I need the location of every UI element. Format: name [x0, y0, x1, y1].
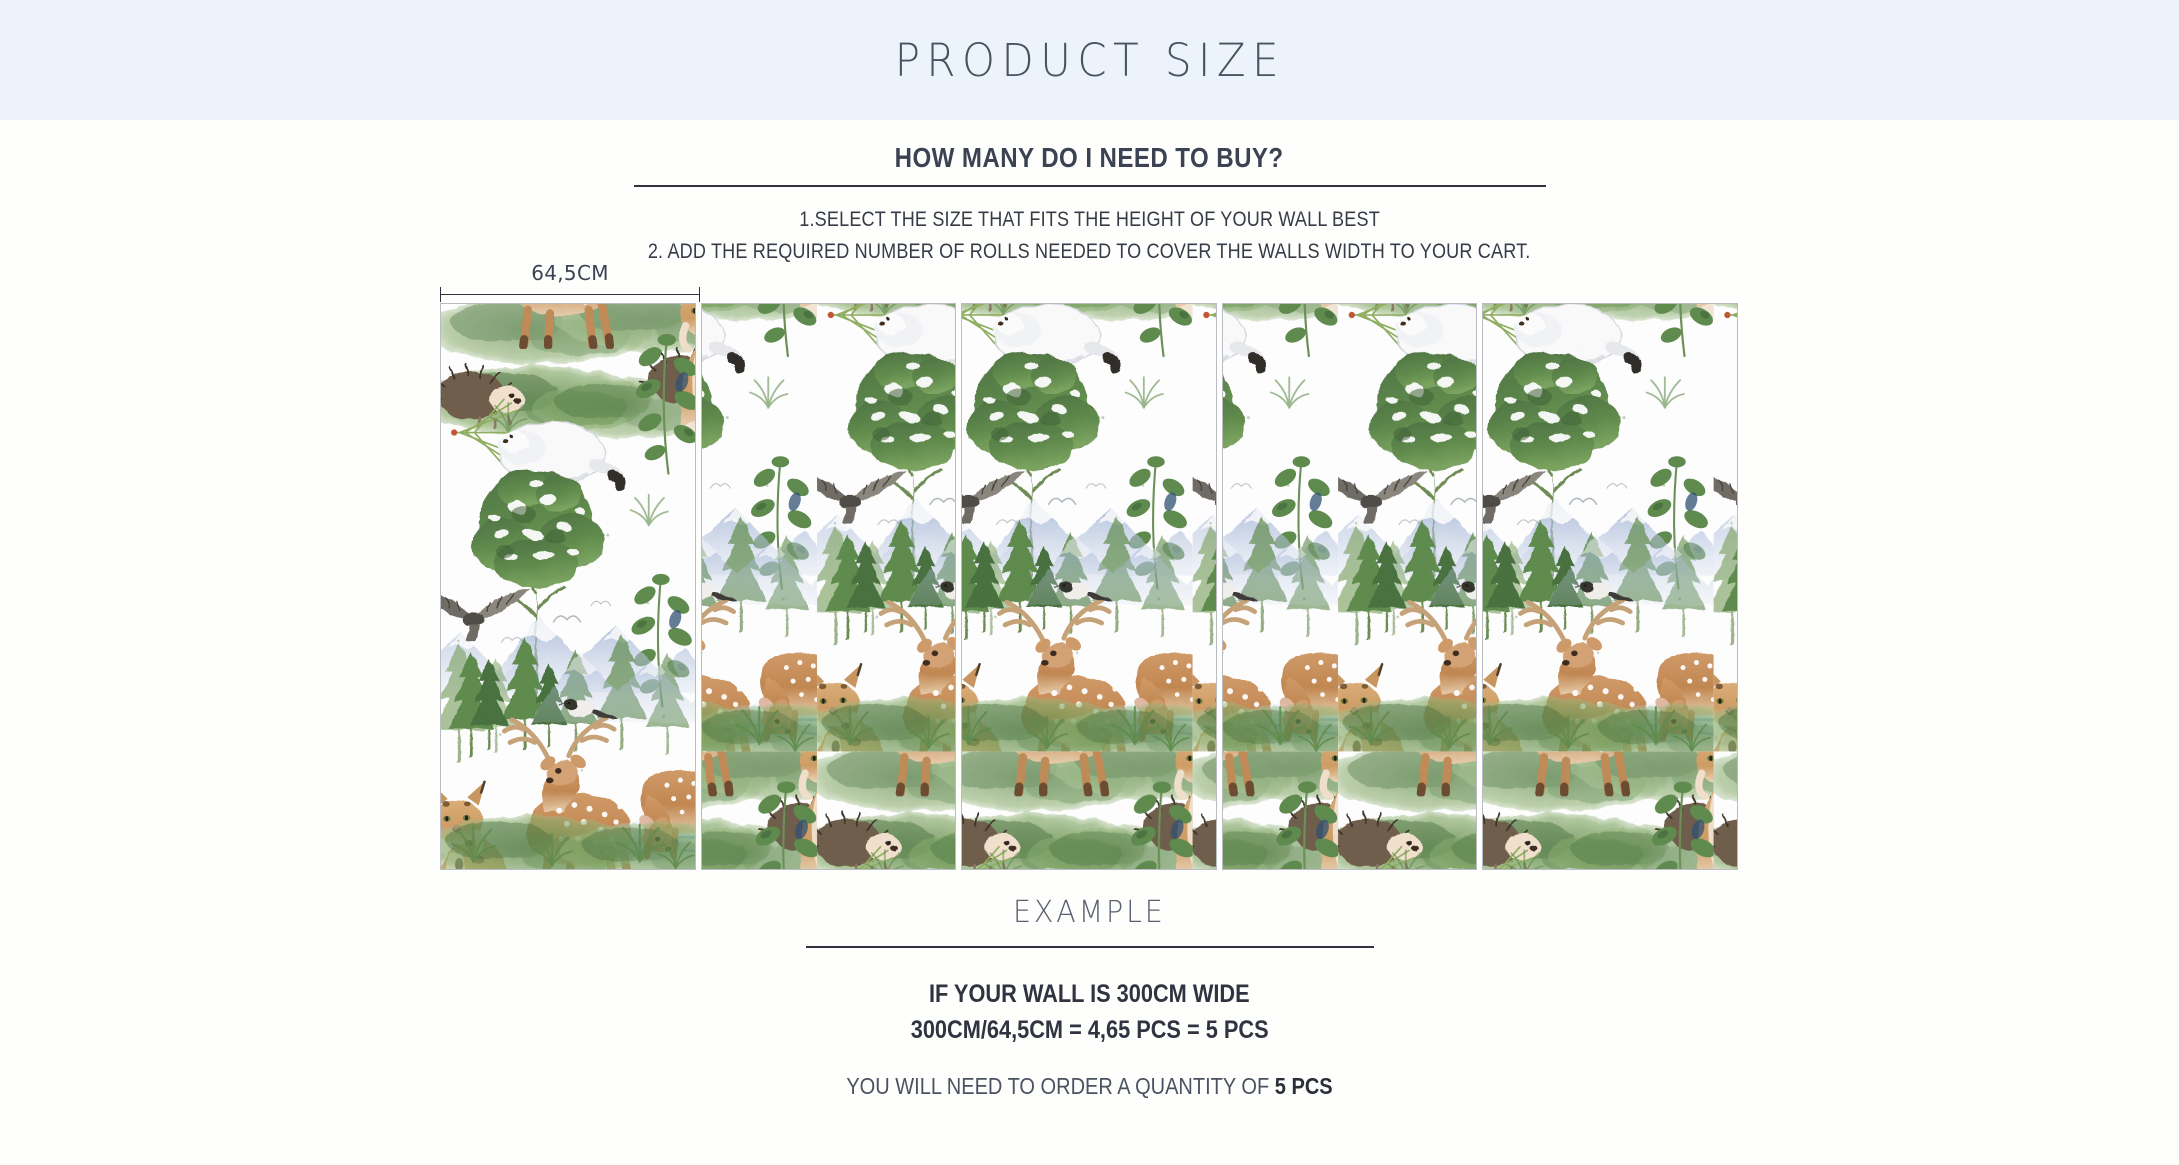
example-heading-wrap: EXAMPLE	[0, 895, 2179, 930]
example-wall-width: IF YOUR WALL IS 300CM WIDE	[929, 980, 1250, 1009]
wallpaper-pattern-4	[1223, 304, 1478, 869]
roll-width-measurement: 64,5CM	[440, 265, 700, 300]
wallpaper-pattern-3	[962, 304, 1217, 869]
section-heading: HOW MANY DO I NEED TO BUY?	[895, 142, 1284, 174]
product-size-header: PRODUCT SIZE	[0, 0, 2179, 120]
example-wall-wrap: IF YOUR WALL IS 300CM WIDE	[0, 948, 2179, 1009]
instruction-step-1-wrap: 1.SELECT THE SIZE THAT FITS THE HEIGHT O…	[0, 187, 2179, 232]
example-conclusion-wrap: YOU WILL NEED TO ORDER A QUANTITY OF 5 P…	[0, 1045, 2179, 1100]
measurement-label: 64,5CM	[440, 261, 700, 285]
example-heading: EXAMPLE	[1013, 895, 1166, 930]
instruction-step-2: 2. ADD THE REQUIRED NUMBER OF ROLLS NEED…	[648, 240, 1531, 264]
wallpaper-roll-1[interactable]	[440, 303, 696, 870]
example-conclusion-prefix: YOU WILL NEED TO ORDER A QUANTITY OF	[846, 1073, 1274, 1099]
wallpaper-pattern-5	[1483, 304, 1738, 869]
instruction-step-1: 1.SELECT THE SIZE THAT FITS THE HEIGHT O…	[799, 208, 1380, 232]
instructions-section: HOW MANY DO I NEED TO BUY? 1.SELECT THE …	[0, 120, 2179, 264]
page-title: PRODUCT SIZE	[894, 34, 1284, 87]
measurement-line	[440, 294, 700, 295]
example-conclusion-quantity: 5 PCS	[1275, 1073, 1333, 1099]
instruction-step-2-wrap: 2. ADD THE REQUIRED NUMBER OF ROLLS NEED…	[0, 232, 2179, 264]
wallpaper-roll-4[interactable]	[1222, 303, 1478, 870]
section-heading-wrap: HOW MANY DO I NEED TO BUY?	[0, 142, 2179, 174]
example-conclusion: YOU WILL NEED TO ORDER A QUANTITY OF 5 P…	[846, 1073, 1332, 1100]
wallpaper-roll-5[interactable]	[1482, 303, 1738, 870]
example-calc-wrap: 300CM/64,5CM = 4,65 PCS = 5 PCS	[0, 1009, 2179, 1045]
example-calculation: 300CM/64,5CM = 4,65 PCS = 5 PCS	[911, 1016, 1269, 1045]
wallpaper-roll-2[interactable]	[701, 303, 957, 870]
wallpaper-pattern-2	[702, 304, 957, 869]
measurement-tick-right-icon	[699, 287, 700, 302]
wallpaper-panels-row	[440, 303, 1738, 870]
wallpaper-roll-3[interactable]	[961, 303, 1217, 870]
example-section: EXAMPLE IF YOUR WALL IS 300CM WIDE 300CM…	[0, 895, 2179, 1100]
measurement-tick-left-icon	[440, 287, 441, 302]
wallpaper-pattern-1	[441, 304, 696, 869]
